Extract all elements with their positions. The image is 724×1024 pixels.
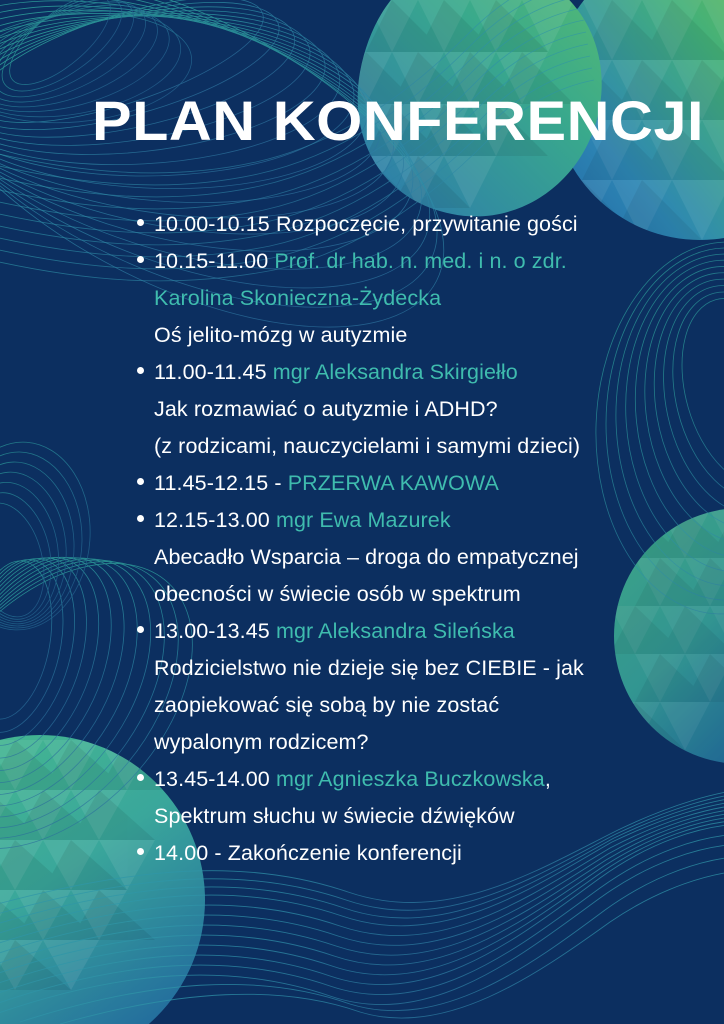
schedule-text: Spektrum słuchu w świecie dźwięków bbox=[154, 804, 515, 828]
schedule-text: 10.15-11.00 bbox=[154, 249, 274, 273]
schedule-entry-headline: 11.45-12.15 - PRZERWA KAWOWA bbox=[154, 465, 706, 502]
schedule-text: Oś jelito-mózg w autyzmie bbox=[154, 323, 407, 347]
schedule-entry: 10.00-10.15 Rozpoczęcie, przywitanie goś… bbox=[136, 206, 706, 243]
schedule-text: 13.45-14.00 bbox=[154, 767, 276, 791]
schedule-entry-detail: zaopiekować się sobą by nie zostać bbox=[154, 687, 706, 724]
schedule-entry-detail: Spektrum słuchu w świecie dźwięków bbox=[154, 798, 706, 835]
conference-schedule-poster: PLAN KONFERENCJI 10.00-10.15 Rozpoczęcie… bbox=[0, 0, 724, 1024]
bullet-icon bbox=[137, 848, 144, 855]
bullet-icon bbox=[137, 626, 144, 633]
schedule-text: wypalonym rodzicem? bbox=[154, 730, 369, 754]
page-title: PLAN KONFERENCJI bbox=[92, 92, 704, 151]
schedule-entry-headline: 14.00 - Zakończenie konferencji bbox=[154, 835, 706, 872]
schedule-entry-detail: wypalonym rodzicem? bbox=[154, 724, 706, 761]
speaker-name: Prof. dr hab. n. med. i n. o zdr. bbox=[274, 249, 567, 273]
schedule-entry: 12.15-13.00 mgr Ewa MazurekAbecadło Wspa… bbox=[136, 502, 706, 613]
schedule-text: 11.00-11.45 bbox=[154, 360, 273, 384]
schedule-text: Rodzicielstwo nie dzieje się bez CIEBIE … bbox=[154, 656, 584, 680]
schedule-entry-detail: Karolina Skonieczna-Żydecka bbox=[154, 280, 706, 317]
speaker-name: mgr Ewa Mazurek bbox=[276, 508, 451, 532]
schedule-text: (z rodzicami, nauczycielami i samymi dzi… bbox=[154, 434, 580, 458]
schedule-text: 12.15-13.00 bbox=[154, 508, 276, 532]
schedule-text: Abecadło Wsparcia – droga do empatycznej bbox=[154, 545, 579, 569]
schedule-entry: 11.00-11.45 mgr Aleksandra SkirgiełłoJak… bbox=[136, 354, 706, 465]
schedule-entry-headline: 10.15-11.00 Prof. dr hab. n. med. i n. o… bbox=[154, 243, 706, 280]
schedule-text: obecności w świecie osób w spektrum bbox=[154, 582, 521, 606]
speaker-name: mgr Aleksandra Skirgiełło bbox=[273, 360, 518, 384]
speaker-name: PRZERWA KAWOWA bbox=[288, 471, 499, 495]
schedule-entry: 13.00-13.45 mgr Aleksandra SileńskaRodzi… bbox=[136, 613, 706, 761]
speaker-name: Karolina Skonieczna-Żydecka bbox=[154, 286, 441, 310]
bullet-icon bbox=[137, 478, 144, 485]
schedule-entry-detail: obecności w świecie osób w spektrum bbox=[154, 576, 706, 613]
schedule-entry: 10.15-11.00 Prof. dr hab. n. med. i n. o… bbox=[136, 243, 706, 354]
bullet-icon bbox=[137, 219, 144, 226]
schedule-entry-headline: 11.00-11.45 mgr Aleksandra Skirgiełło bbox=[154, 354, 706, 391]
schedule-entry-detail: Oś jelito-mózg w autyzmie bbox=[154, 317, 706, 354]
schedule-text: 10.00-10.15 Rozpoczęcie, przywitanie goś… bbox=[154, 212, 578, 236]
schedule-entry: 13.45-14.00 mgr Agnieszka Buczkowska,Spe… bbox=[136, 761, 706, 835]
speaker-name: mgr Aleksandra Sileńska bbox=[276, 619, 515, 643]
schedule-entry-headline: 13.00-13.45 mgr Aleksandra Sileńska bbox=[154, 613, 706, 650]
schedule-text: , bbox=[545, 767, 551, 791]
schedule-entry-headline: 10.00-10.15 Rozpoczęcie, przywitanie goś… bbox=[154, 206, 706, 243]
schedule-text: zaopiekować się sobą by nie zostać bbox=[154, 693, 499, 717]
schedule-entry-detail: Jak rozmawiać o autyzmie i ADHD? bbox=[154, 391, 706, 428]
bullet-icon bbox=[137, 256, 144, 263]
schedule-entry: 11.45-12.15 - PRZERWA KAWOWA bbox=[136, 465, 706, 502]
schedule-list: 10.00-10.15 Rozpoczęcie, przywitanie goś… bbox=[136, 206, 706, 872]
schedule-entry-headline: 13.45-14.00 mgr Agnieszka Buczkowska, bbox=[154, 761, 706, 798]
schedule-text: 11.45-12.15 - bbox=[154, 471, 288, 495]
schedule-text: 14.00 - Zakończenie konferencji bbox=[154, 841, 462, 865]
bullet-icon bbox=[137, 515, 144, 522]
schedule-text: Jak rozmawiać o autyzmie i ADHD? bbox=[154, 397, 498, 421]
bullet-icon bbox=[137, 774, 144, 781]
schedule-entry-detail: (z rodzicami, nauczycielami i samymi dzi… bbox=[154, 428, 706, 465]
schedule-entry-detail: Abecadło Wsparcia – droga do empatycznej bbox=[154, 539, 706, 576]
bullet-icon bbox=[137, 367, 144, 374]
schedule-entry: 14.00 - Zakończenie konferencji bbox=[136, 835, 706, 872]
schedule-entry-detail: Rodzicielstwo nie dzieje się bez CIEBIE … bbox=[154, 650, 706, 687]
schedule-text: 13.00-13.45 bbox=[154, 619, 276, 643]
speaker-name: mgr Agnieszka Buczkowska bbox=[276, 767, 545, 791]
schedule-entry-headline: 12.15-13.00 mgr Ewa Mazurek bbox=[154, 502, 706, 539]
